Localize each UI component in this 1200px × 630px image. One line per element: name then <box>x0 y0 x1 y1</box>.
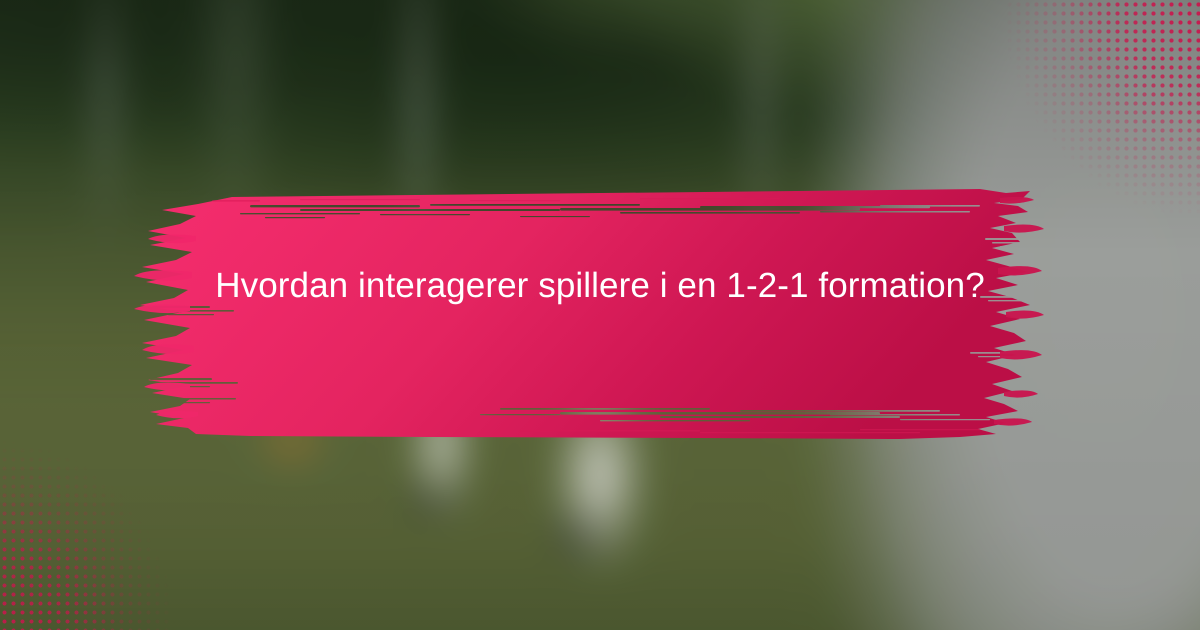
page-title: Hvordan interagerer spillere i en 1-2-1 … <box>180 258 1020 315</box>
social-share-card: Hvordan interagerer spillere i en 1-2-1 … <box>0 0 1200 630</box>
brush-stroke-banner <box>0 0 1200 630</box>
